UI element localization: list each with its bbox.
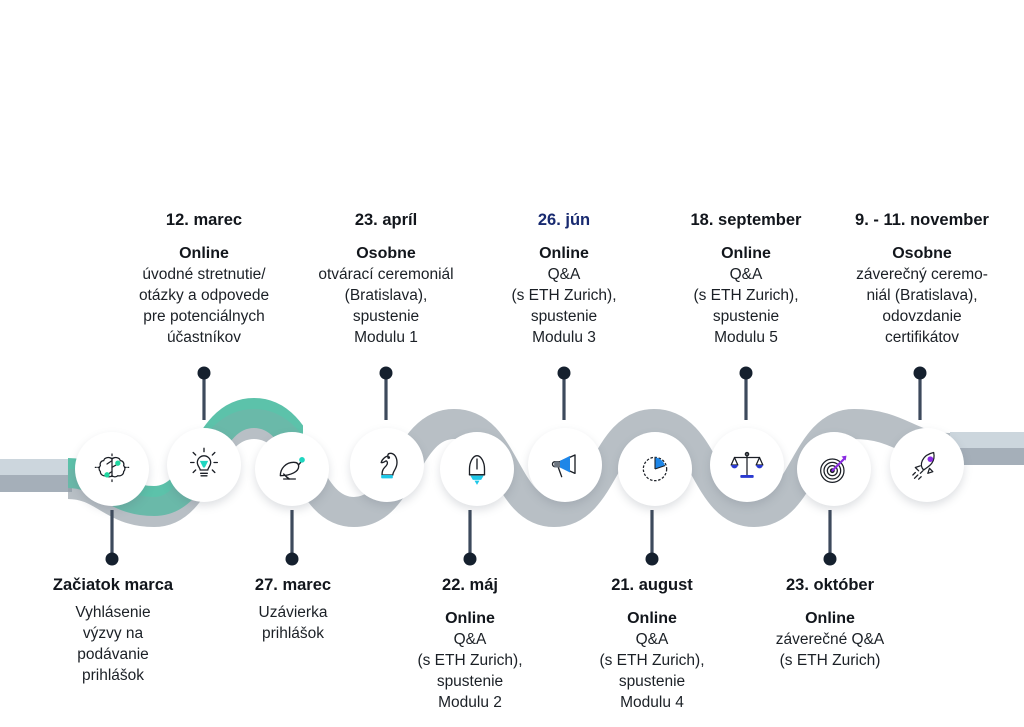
milestone-date: Začiatok marca xyxy=(22,575,204,595)
milestone-desc: záverečný ceremo- niál (Bratislava), odo… xyxy=(832,264,1012,348)
milestone-icon-rocket-launch[interactable] xyxy=(440,432,514,506)
milestone-icon-megaphone[interactable] xyxy=(528,428,602,502)
brain-idea-icon xyxy=(92,449,132,489)
milestone-desc: záverečné Q&A (s ETH Zurich) xyxy=(742,629,918,671)
milestone-icon-rocket[interactable] xyxy=(890,428,964,502)
rocket-icon xyxy=(907,445,947,485)
milestone-desc: úvodné stretnutie/ otázky a odpovede pre… xyxy=(104,264,304,348)
milestone-mode: Online xyxy=(388,608,552,629)
milestone-date: 9. - 11. november xyxy=(832,210,1012,230)
milestone-date: 23. apríl xyxy=(290,210,482,230)
milestone-icon-pie-chart[interactable] xyxy=(618,432,692,506)
milestone-date: 23. október xyxy=(742,575,918,595)
milestone-date: 22. máj xyxy=(388,575,552,595)
milestone-mode: Online xyxy=(658,243,834,264)
milestone-date: 12. marec xyxy=(104,210,304,230)
milestone-date: 26. jún xyxy=(478,210,650,230)
milestone-desc: Q&A (s ETH Zurich), spustenie Modulu 4 xyxy=(568,629,736,713)
milestone-icon-lightbulb[interactable] xyxy=(167,428,241,502)
milestone-label-18-september: 18. september Online Q&A (s ETH Zurich),… xyxy=(658,210,834,348)
scales-balance-icon xyxy=(727,445,767,485)
stub-left xyxy=(0,459,70,492)
milestone-label-21-august: 21. august Online Q&A (s ETH Zurich), sp… xyxy=(568,575,736,713)
milestone-desc: Uzávierka prihlášok xyxy=(213,602,373,644)
milestone-mode: Osobne xyxy=(290,243,482,264)
milestone-label-12-marec: 12. marec Online úvodné stretnutie/ otáz… xyxy=(104,210,304,348)
milestone-label-23-april: 23. apríl Osobne otvárací ceremoniál (Br… xyxy=(290,210,482,348)
wave-stub-left-final xyxy=(0,459,72,492)
milestone-icon-chess-knight[interactable] xyxy=(350,428,424,502)
milestone-mode: Online xyxy=(104,243,304,264)
milestone-label-zaciatok-marca: Začiatok marca Vyhlásenie výzvy na podáv… xyxy=(22,575,204,686)
page-title: Program prebieha od apríla do novembra 2… xyxy=(46,16,476,114)
milestone-desc: otvárací ceremoniál (Bratislava), spuste… xyxy=(290,264,482,348)
milestone-label-27-marec: 27. marec Uzávierka prihlášok xyxy=(213,575,373,644)
chess-knight-icon xyxy=(367,445,407,485)
milestone-label-23-oktober: 23. október Online záverečné Q&A (s ETH … xyxy=(742,575,918,671)
milestone-date: 27. marec xyxy=(213,575,373,595)
milestone-desc: Q&A (s ETH Zurich), spustenie Modulu 3 xyxy=(478,264,650,348)
header-banner: Program prebieha od apríla do novembra 2… xyxy=(0,0,994,130)
milestone-mode: Online xyxy=(478,243,650,264)
pie-chart-icon xyxy=(635,449,675,489)
milestone-date: 21. august xyxy=(568,575,736,595)
target-dart-icon xyxy=(814,449,854,489)
milestone-label-22-maj: 22. máj Online Q&A (s ETH Zurich), spust… xyxy=(388,575,552,713)
megaphone-icon xyxy=(545,445,585,485)
satellite-dish-icon xyxy=(272,449,312,489)
milestone-icon-satellite-dish[interactable] xyxy=(255,432,329,506)
rocket-launch-icon xyxy=(457,449,497,489)
milestone-icon-brain-idea[interactable] xyxy=(75,432,149,506)
milestone-label-9-11-november: 9. - 11. november Osobne záverečný cerem… xyxy=(832,210,1012,348)
lightbulb-icon xyxy=(184,445,224,485)
milestone-mode: Online xyxy=(742,608,918,629)
milestone-desc: Q&A (s ETH Zurich), spustenie Modulu 5 xyxy=(658,264,834,348)
milestone-icon-target-dart[interactable] xyxy=(797,432,871,506)
infographic-root: Program prebieha od apríla do novembra 2… xyxy=(0,0,1024,727)
milestone-desc: Vyhlásenie výzvy na podávanie prihlášok xyxy=(22,602,204,686)
milestone-mode: Osobne xyxy=(832,243,1012,264)
wave-stub-right xyxy=(956,436,1024,467)
milestone-date: 18. september xyxy=(658,210,834,230)
milestone-label-26-jun: 26. jún Online Q&A (s ETH Zurich), spust… xyxy=(478,210,650,348)
milestone-mode: Online xyxy=(568,608,736,629)
milestone-desc: Q&A (s ETH Zurich), spustenie Modulu 2 xyxy=(388,629,552,713)
milestone-icon-scales-balance[interactable] xyxy=(710,428,784,502)
wave-stub-left xyxy=(0,462,78,493)
